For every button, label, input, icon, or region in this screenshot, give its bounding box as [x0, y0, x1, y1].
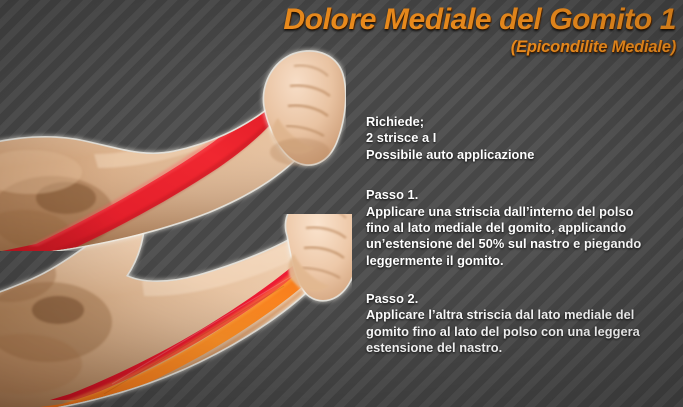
photo-step-1	[0, 46, 346, 251]
requirements-block: Richiede; 2 strisce a I Possibile auto a…	[366, 114, 676, 163]
page-subtitle: (Epicondilite Mediale)	[240, 38, 676, 57]
instructions-column: Richiede; 2 strisce a I Possibile auto a…	[366, 114, 676, 357]
step-2-block: Passo 2. Applicare l’altra striscia dal …	[366, 291, 676, 357]
step-1-block: Passo 1. Applicare una striscia dall’int…	[366, 187, 676, 269]
page-title: Dolore Mediale del Gomito 1	[240, 4, 676, 36]
poster-root: Dolore Mediale del Gomito 1 (Epicondilit…	[0, 0, 683, 407]
title-block: Dolore Mediale del Gomito 1 (Epicondilit…	[240, 4, 676, 57]
fist-closed	[264, 52, 345, 166]
